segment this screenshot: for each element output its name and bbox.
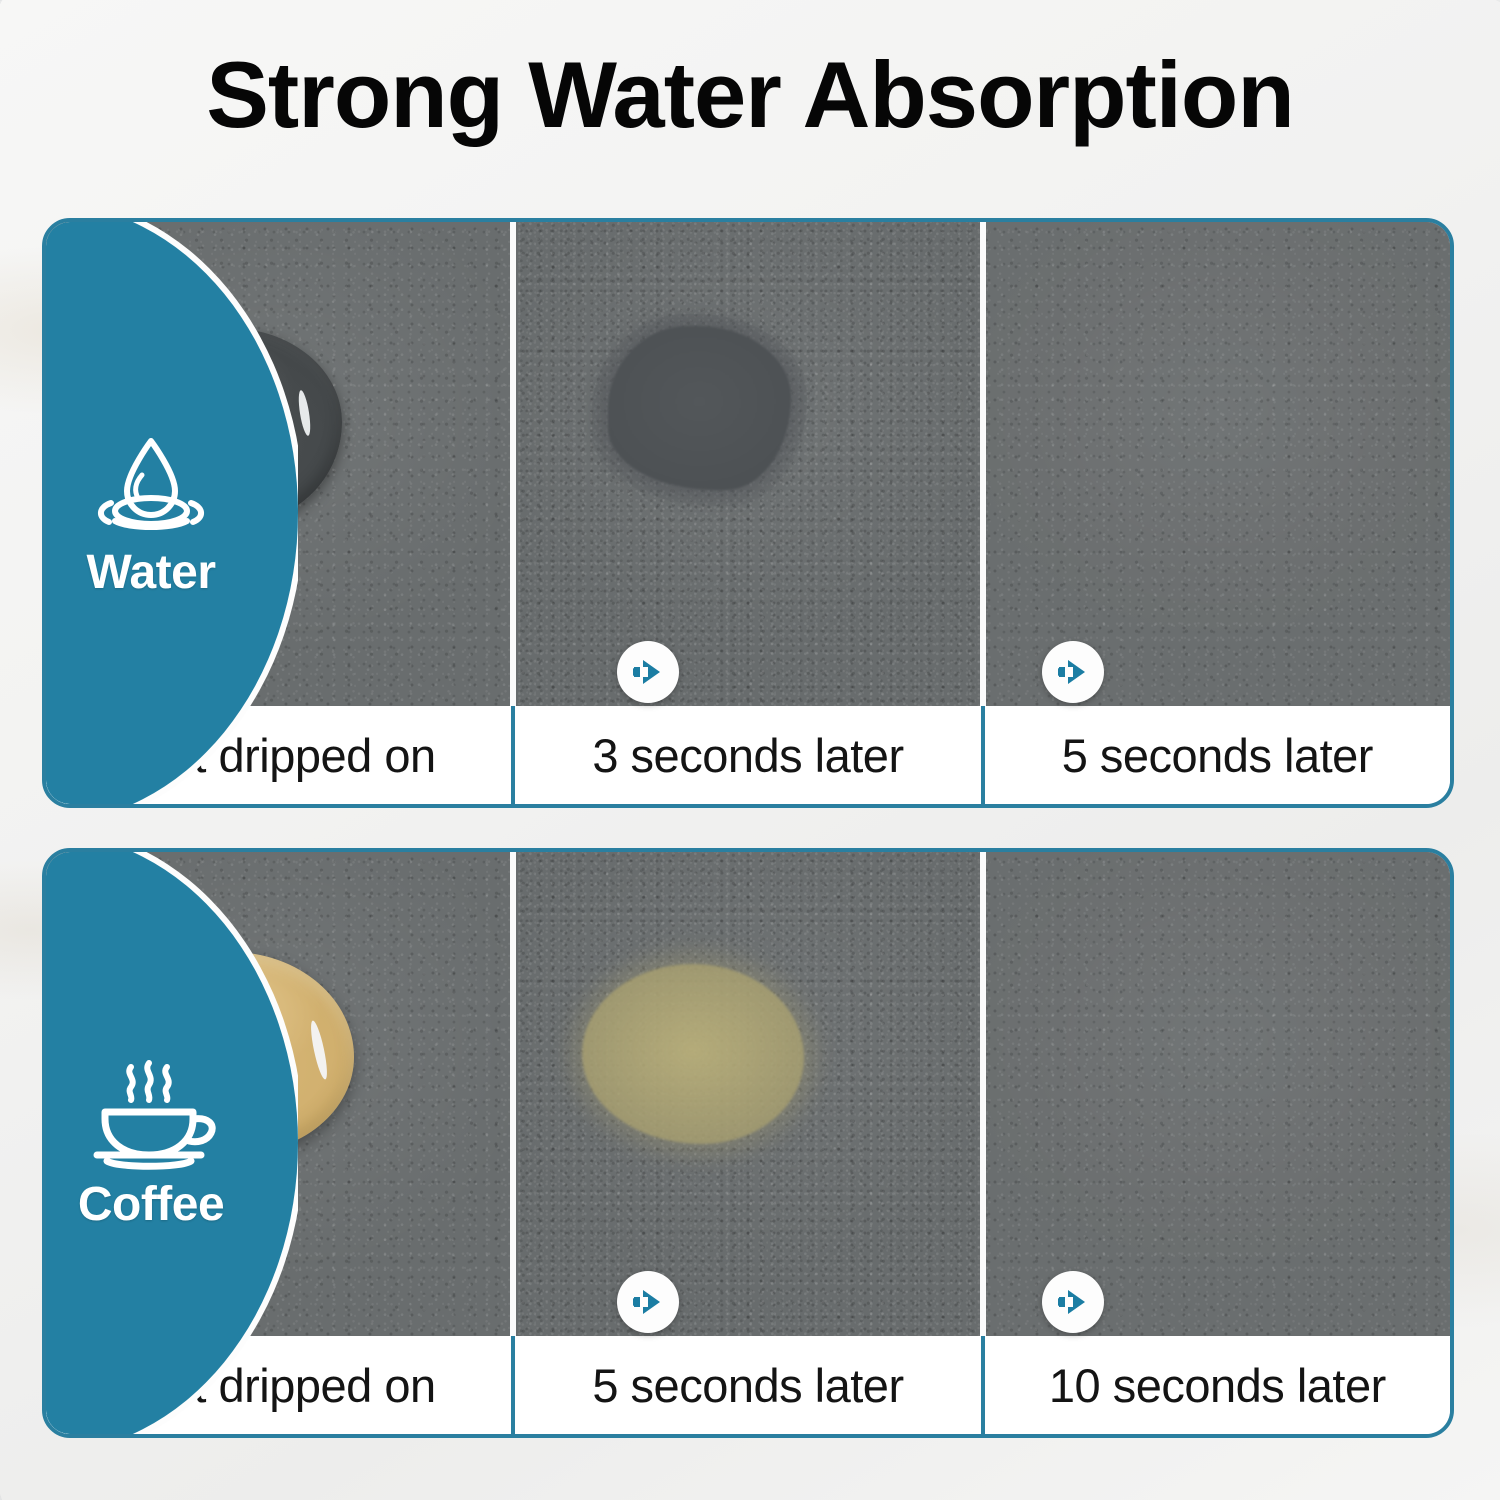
water-caption-2: 3 seconds later	[511, 706, 980, 804]
coffee-caption-3: 10 seconds later	[981, 1336, 1450, 1434]
coffee-stain-absorbing	[582, 964, 804, 1144]
coffee-transition-badge-1	[617, 1271, 679, 1333]
panel-coffee: Just dripped on 5 seconds later 10 secon…	[42, 848, 1454, 1438]
leather-surface-texture	[980, 222, 1450, 706]
leather-surface-texture	[980, 852, 1450, 1336]
coffee-caption-2: 5 seconds later	[511, 1336, 980, 1434]
water-stage-3-image	[980, 222, 1450, 706]
coffee-side-tab: Coffee	[46, 852, 298, 1434]
double-arrow-right-icon	[1056, 657, 1090, 687]
water-drop-ripple-icon	[87, 429, 215, 541]
water-stain-absorbing	[608, 326, 791, 490]
page-title: Strong Water Absorption	[0, 48, 1500, 142]
double-arrow-right-icon	[1056, 1287, 1090, 1317]
water-transition-badge-2	[1042, 641, 1104, 703]
coffee-cup-steam-icon	[83, 1057, 219, 1173]
water-caption-3: 5 seconds later	[981, 706, 1450, 804]
water-side-tab: Water	[46, 222, 298, 804]
panel-water: Just dripped on 3 seconds later 5 second…	[42, 218, 1454, 808]
water-tab-label: Water	[46, 549, 256, 597]
water-transition-badge-1	[617, 641, 679, 703]
water-stage-2-image	[510, 222, 980, 706]
coffee-stage-3-image	[980, 852, 1450, 1336]
coffee-stage-2-image	[510, 852, 980, 1336]
specular-highlight-icon	[296, 390, 312, 437]
double-arrow-right-icon	[631, 1287, 665, 1317]
specular-highlight-icon	[308, 1020, 330, 1081]
coffee-transition-badge-2	[1042, 1271, 1104, 1333]
coffee-tab-label: Coffee	[46, 1181, 256, 1229]
double-arrow-right-icon	[631, 657, 665, 687]
